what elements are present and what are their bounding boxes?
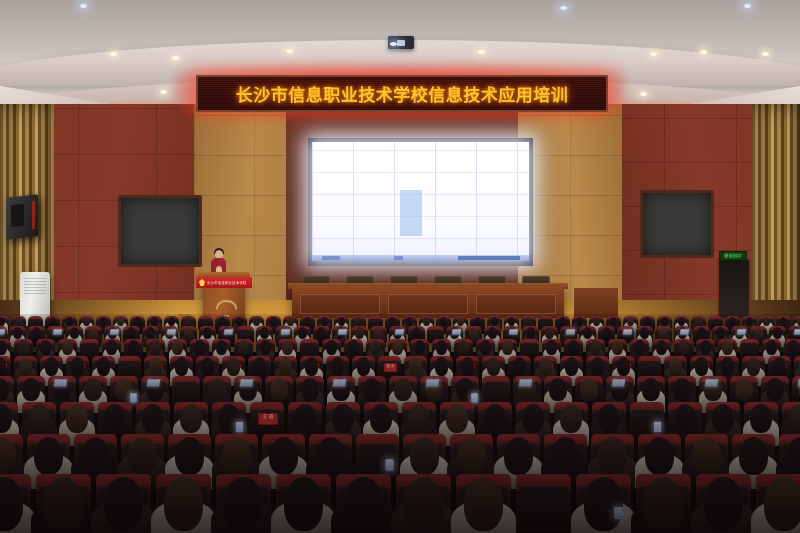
audience-member: [469, 327, 478, 339]
audience-member: [260, 327, 269, 339]
audience-member: [270, 378, 287, 401]
audience-member: [227, 357, 241, 375]
audience-member: [488, 327, 497, 339]
audience-member: [253, 317, 260, 326]
audience-member: [150, 340, 161, 354]
laptop-icon: [240, 379, 253, 387]
audience-member: [580, 378, 597, 401]
exit-sign-label: 安全出口: [724, 253, 741, 259]
acoustic-panel-left: [118, 195, 202, 267]
audience-member: [392, 340, 403, 354]
audience-member: [253, 357, 267, 375]
taskbar-item: [322, 256, 340, 260]
audience-member: [750, 404, 772, 433]
audience-member: [172, 340, 183, 354]
audience-member: [66, 317, 73, 326]
laptop-icon: [338, 329, 347, 334]
audience-member: [590, 340, 601, 354]
audience-member: [40, 340, 51, 354]
audience-member: [593, 317, 600, 326]
audience-member: [602, 327, 611, 339]
audience-member: [344, 477, 383, 530]
audience-member: [549, 378, 566, 401]
audience-member: [180, 404, 202, 433]
audience-member: [644, 317, 651, 326]
laptop-icon: [54, 379, 67, 387]
audience-member: [151, 317, 158, 326]
audience-member: [764, 477, 800, 530]
audience-member: [766, 378, 783, 401]
table-panel: [388, 294, 468, 314]
downlight-icon: [286, 49, 293, 53]
audience-member: [34, 437, 63, 476]
audience-member: [704, 477, 743, 530]
audience-member: [729, 317, 736, 326]
seat-name-card-label: 陈 芳: [385, 364, 397, 368]
audience-member: [270, 317, 277, 326]
audience-member: [18, 340, 29, 354]
downlight-icon: [110, 52, 117, 56]
smartphone-icon: [471, 393, 478, 403]
audience-member: [142, 404, 164, 433]
smartphone-icon: [386, 459, 394, 470]
audience-member: [464, 477, 503, 530]
audience-member: [598, 437, 627, 476]
audience-member: [201, 357, 215, 375]
curtain-right: [752, 104, 800, 330]
audience-member: [484, 404, 506, 433]
audience-member: [219, 317, 226, 326]
downlight-icon: [560, 6, 567, 10]
audience-member: [71, 357, 85, 375]
audience-member: [412, 327, 421, 339]
audience-member: [722, 340, 733, 354]
smartphone-icon: [654, 422, 661, 433]
audience-member: [269, 437, 298, 476]
taskbar-item: [394, 256, 403, 260]
audience-member: [348, 340, 359, 354]
audience-member: [739, 437, 768, 476]
audience-seating: 方 蕾双 英王 霞李 江刘 敏陈 芳张 伟赵 娟周 丽黄 强杨 洋徐 静孙 涛胡…: [0, 314, 800, 533]
audience-member: [44, 477, 83, 530]
audience-member: [294, 404, 316, 433]
laptop-icon: [519, 379, 532, 387]
audience-member: [317, 327, 326, 339]
audience-member: [149, 357, 163, 375]
laptop-icon: [0, 329, 5, 334]
audience-member: [644, 477, 683, 530]
taskbar-tray: [458, 256, 520, 260]
audience-member: [661, 317, 668, 326]
audience-member: [446, 404, 468, 433]
audience-member: [610, 317, 617, 326]
audience-member: [504, 437, 533, 476]
laptop-icon: [110, 329, 119, 334]
seat-name-card: 陈 芳: [384, 363, 398, 372]
audience-member: [480, 340, 491, 354]
led-banner-text: 长沙市信息职业技术学校信息技术应用培训: [236, 81, 569, 106]
audience-member: [735, 378, 752, 401]
audience-member: [168, 317, 175, 326]
audience-member: [410, 437, 439, 476]
laptop-icon: [426, 379, 439, 387]
laptop-icon: [333, 379, 346, 387]
audience-member: [49, 317, 56, 326]
audience-member: [695, 317, 702, 326]
audience-member: [522, 404, 544, 433]
exit-door[interactable]: [717, 258, 751, 320]
audience-member: [673, 378, 690, 401]
audience-member: [546, 340, 557, 354]
audience-member: [414, 340, 425, 354]
audience-member: [305, 357, 319, 375]
audience-member: [747, 357, 761, 375]
audience-member: [440, 317, 447, 326]
audience-member: [301, 378, 318, 401]
audience-member: [298, 327, 307, 339]
downlight-icon: [650, 52, 657, 56]
downlight-icon: [700, 50, 707, 54]
audience-member: [282, 340, 293, 354]
audience-member: [32, 327, 41, 339]
audience-member: [692, 437, 721, 476]
laptop-icon: [452, 329, 461, 334]
audience-member: [104, 477, 143, 530]
downlight-icon: [478, 50, 485, 54]
audience-member: [409, 357, 423, 375]
audience-member: [224, 477, 263, 530]
audience-member: [194, 340, 205, 354]
audience-member: [357, 357, 371, 375]
audience-member: [763, 317, 770, 326]
audience-member: [13, 327, 22, 339]
audience-member: [106, 340, 117, 354]
laptop-icon: [566, 329, 575, 334]
led-banner-screen: 长沙市信息职业技术学校信息技术应用培训: [198, 77, 606, 110]
audience-member: [766, 340, 777, 354]
audience-member: [788, 340, 799, 354]
audience-member: [457, 437, 486, 476]
audience-member: [697, 327, 706, 339]
audience-member: [700, 340, 711, 354]
audience-member: [45, 357, 59, 375]
downlight-icon: [80, 4, 87, 8]
laptop-icon: [53, 329, 62, 334]
audience-member: [284, 477, 323, 530]
table-panel: [476, 294, 556, 314]
audience-member: [316, 437, 345, 476]
audience-member: [565, 357, 579, 375]
audience-member: [326, 340, 337, 354]
laptop-icon: [281, 329, 290, 334]
audience-member: [674, 404, 696, 433]
audience-member: [568, 340, 579, 354]
audience-member: [773, 357, 787, 375]
audience-member: [435, 357, 449, 375]
audience-member: [363, 378, 380, 401]
audience-member: [0, 340, 7, 354]
audience-member: [458, 340, 469, 354]
downlight-icon: [390, 42, 397, 46]
audience-member: [128, 340, 139, 354]
audience-member: [104, 404, 126, 433]
audience-member: [260, 340, 271, 354]
audience-member: [100, 317, 107, 326]
laptop-icon: [705, 379, 718, 387]
audience-member: [146, 327, 155, 339]
audience-member: [487, 357, 501, 375]
audience-member: [19, 357, 33, 375]
audience-member: [513, 357, 527, 375]
audience-member: [70, 327, 79, 339]
audience-member: [436, 340, 447, 354]
audience-member: [28, 404, 50, 433]
audience-member: [640, 327, 649, 339]
audience-member: [279, 357, 293, 375]
audience-member: [502, 340, 513, 354]
audience-member: [370, 340, 381, 354]
audience-member: [678, 340, 689, 354]
audience-member: [331, 357, 345, 375]
audience-member: [304, 317, 311, 326]
audience-member: [406, 317, 413, 326]
laptop-icon: [737, 329, 746, 334]
table-panel: [300, 294, 380, 314]
laptop-icon: [680, 329, 689, 334]
downlight-icon: [640, 92, 647, 96]
audience-member: [332, 404, 354, 433]
seat-name-card-label: 王 霞: [259, 414, 277, 420]
laptop-icon: [623, 329, 632, 334]
audience-member: [746, 317, 753, 326]
audience-member: [185, 317, 192, 326]
audience-member: [617, 357, 631, 375]
audience-member: [545, 327, 554, 339]
audience-member: [287, 317, 294, 326]
audience-member: [238, 340, 249, 354]
audience-member: [551, 437, 580, 476]
wall-mounted-loudspeaker-icon: [6, 194, 38, 239]
smartphone-icon: [130, 393, 137, 403]
audience-member: [583, 327, 592, 339]
audience-member: [236, 317, 243, 326]
laptop-icon: [167, 329, 176, 334]
audience-member: [374, 327, 383, 339]
laptop-icon: [612, 379, 625, 387]
audience-member: [645, 437, 674, 476]
audience-member: [355, 327, 364, 339]
projection-screen: [308, 138, 533, 266]
audience-member: [394, 378, 411, 401]
podium-banner: 长沙市信息职业技术学校: [196, 277, 252, 288]
podium-banner-text: 长沙市信息职业技术学校: [207, 280, 247, 285]
audience-member: [62, 340, 73, 354]
audience-member: [128, 437, 157, 476]
audience-member: [754, 327, 763, 339]
auditorium-seat[interactable]: [356, 434, 399, 478]
audience-member: [584, 477, 623, 530]
laptop-icon: [794, 329, 800, 334]
auditorium-seat[interactable]: [482, 376, 510, 405]
audience-member: [338, 317, 345, 326]
audience-member: [370, 404, 392, 433]
downlight-icon: [762, 52, 769, 56]
audience-member: [404, 477, 443, 530]
audience-member: [81, 437, 110, 476]
downlight-icon: [160, 90, 167, 94]
audience-member: [222, 437, 251, 476]
audience-member: [576, 317, 583, 326]
audience-member: [773, 327, 782, 339]
laptop-icon: [395, 329, 404, 334]
audience-member: [634, 340, 645, 354]
audience-member: [678, 317, 685, 326]
downlight-icon: [172, 56, 179, 60]
auditorium-seat[interactable]: [516, 474, 571, 532]
audience-member: [560, 404, 582, 433]
audience-member: [559, 317, 566, 326]
audience-member: [659, 327, 668, 339]
audience-member: [208, 378, 225, 401]
audience-member: [15, 317, 22, 326]
auditorium-photo: 长沙市信息职业技术学校信息技术应用培训 长沙市信息职业技术学校 安全出口: [0, 0, 800, 533]
audience-member: [175, 357, 189, 375]
audience-member: [164, 477, 203, 530]
audience-member: [508, 317, 515, 326]
smartphone-icon: [236, 422, 243, 433]
audience-member: [598, 404, 620, 433]
audience-member: [389, 317, 396, 326]
audience-member: [89, 327, 98, 339]
audience-member: [716, 327, 725, 339]
audience-member: [134, 317, 141, 326]
audience-member: [408, 404, 430, 433]
auditorium-seat[interactable]: [172, 376, 200, 405]
audience-member: [203, 327, 212, 339]
audience-member: [627, 317, 634, 326]
audience-member: [461, 357, 475, 375]
audience-member: [526, 327, 535, 339]
audience-member: [83, 317, 90, 326]
audience-member: [788, 404, 800, 433]
audience-member: [591, 357, 605, 375]
audience-member: [612, 340, 623, 354]
audience-member: [355, 317, 362, 326]
downlight-icon: [744, 4, 751, 8]
laptop-icon: [509, 329, 518, 334]
audience-member: [642, 378, 659, 401]
audience-member: [656, 340, 667, 354]
audience-member: [474, 317, 481, 326]
audience-member: [175, 437, 204, 476]
audience-member: [84, 378, 101, 401]
acoustic-panel-right: [640, 190, 714, 258]
audience-member: [22, 378, 39, 401]
audience-member: [491, 317, 498, 326]
audience-member: [695, 357, 709, 375]
audience-member: [0, 317, 5, 326]
audience-member: [184, 327, 193, 339]
laptop-icon: [147, 379, 160, 387]
audience-member: [669, 357, 683, 375]
audience-member: [127, 327, 136, 339]
seat-name-card: 王 霞: [258, 413, 278, 426]
audience-member: [780, 317, 787, 326]
audience-member: [216, 340, 227, 354]
audience-member: [457, 317, 464, 326]
exit-sign-icon: 安全出口: [719, 251, 747, 261]
audience-member: [525, 317, 532, 326]
led-banner: 长沙市信息职业技术学校信息技术应用培训: [196, 75, 608, 112]
projection-screen-selection: [400, 190, 422, 236]
flame-logo-icon: [199, 279, 205, 286]
audience-member: [97, 357, 111, 375]
audience-member: [321, 317, 328, 326]
audience-member: [539, 357, 553, 375]
audience-member: [117, 317, 124, 326]
laptop-icon: [224, 329, 233, 334]
audience-member: [721, 357, 735, 375]
audience-member: [712, 404, 734, 433]
audience-member: [423, 317, 430, 326]
smartphone-icon: [614, 506, 623, 518]
audience-member: [66, 404, 88, 433]
